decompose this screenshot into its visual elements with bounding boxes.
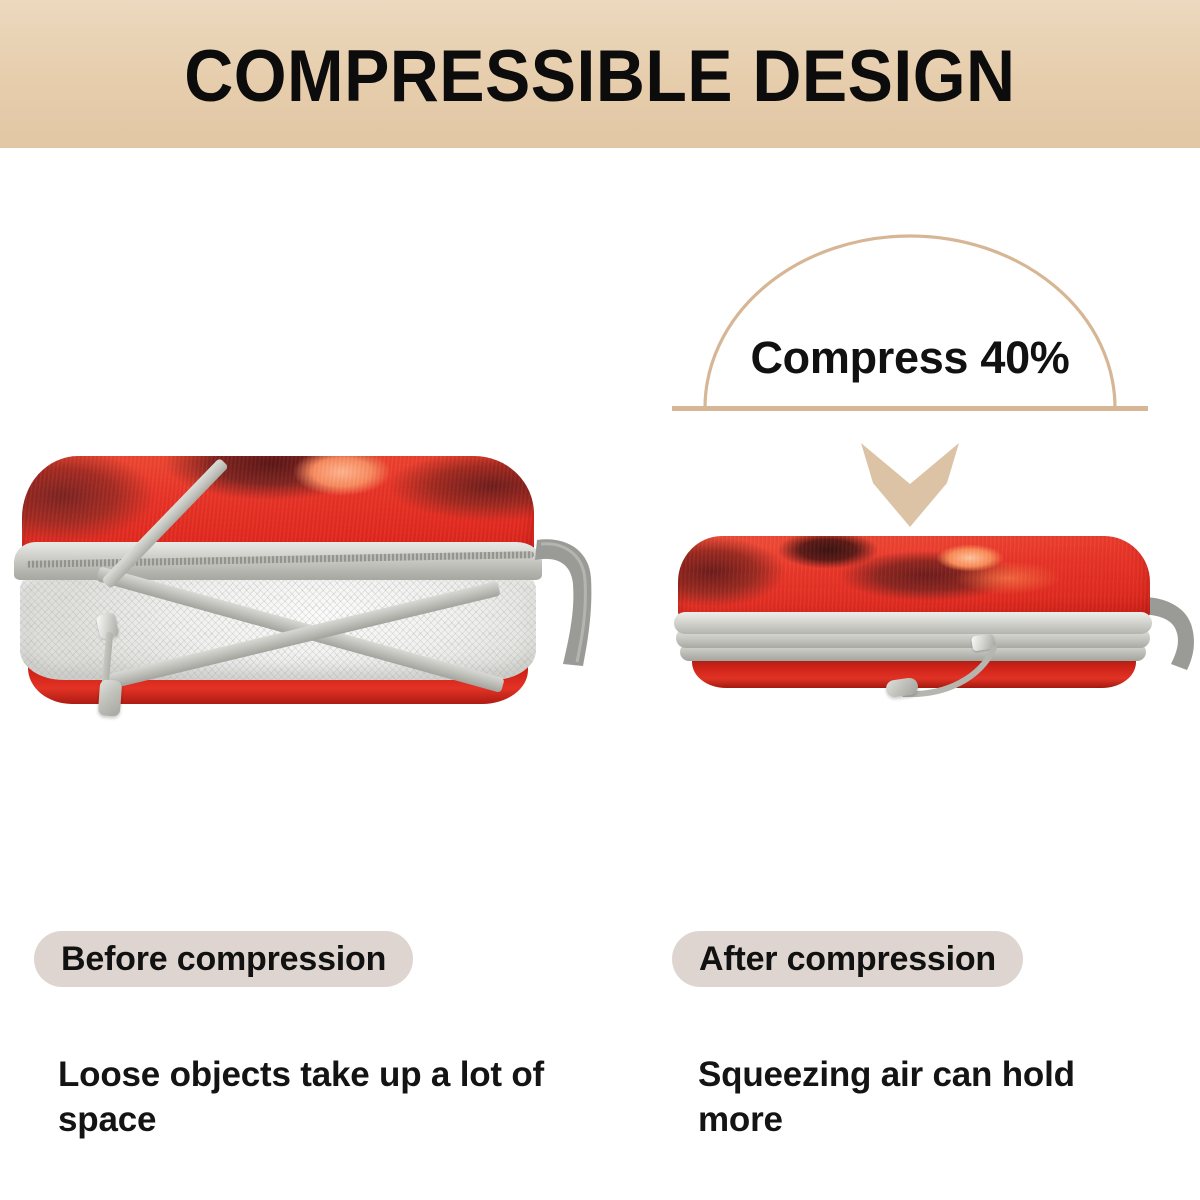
zipper-pull-tab-before xyxy=(98,679,122,716)
header-banner: COMPRESSIBLE DESIGN xyxy=(0,0,1200,148)
pill-label-before: Before compression xyxy=(61,940,386,979)
caption-before: Loose objects take up a lot of space xyxy=(58,1053,558,1143)
status-badge-before: Before compression xyxy=(34,931,413,987)
bag-red-lid-after xyxy=(678,536,1150,622)
packing-cube-compressed xyxy=(672,536,1192,726)
packing-cube-uncompressed xyxy=(14,456,574,721)
page-title: COMPRESSIBLE DESIGN xyxy=(184,40,1015,113)
pill-label-after: After compression xyxy=(699,940,996,979)
product-comparison-stage: Before compression After compression Loo… xyxy=(0,148,1200,1200)
bag-body-before xyxy=(14,456,542,711)
bag-handle-strap-before xyxy=(529,534,601,674)
bag-zipper-band-after-1 xyxy=(674,612,1152,634)
status-badge-after: After compression xyxy=(672,931,1023,987)
caption-after: Squeezing air can hold more xyxy=(698,1053,1168,1143)
